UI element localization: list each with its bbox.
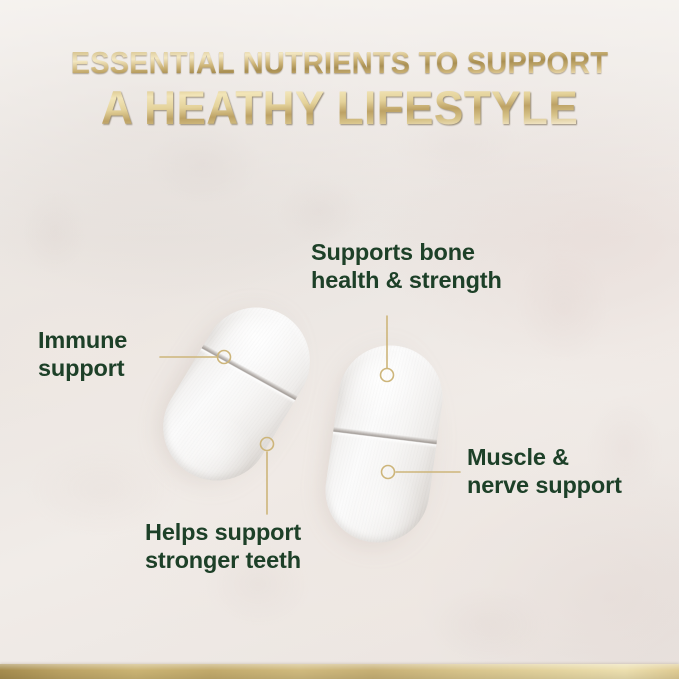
caplet-left bbox=[143, 288, 329, 501]
callout-label-stronger-teeth: Helps support stronger teeth bbox=[145, 518, 301, 574]
callout-label-muscle-nerve-support: Muscle & nerve support bbox=[467, 443, 622, 499]
callout-label-bone-health: Supports bone health & strength bbox=[311, 238, 502, 294]
caplet-right bbox=[319, 339, 450, 550]
bottom-gold-bar-sheen bbox=[0, 664, 679, 679]
bottom-gold-bar bbox=[0, 664, 679, 679]
callout-label-immune-support: Immune support bbox=[38, 326, 127, 382]
infographic-canvas: ESSENTIAL NUTRIENTS TO SUPPORT A HEATHY … bbox=[0, 0, 679, 679]
